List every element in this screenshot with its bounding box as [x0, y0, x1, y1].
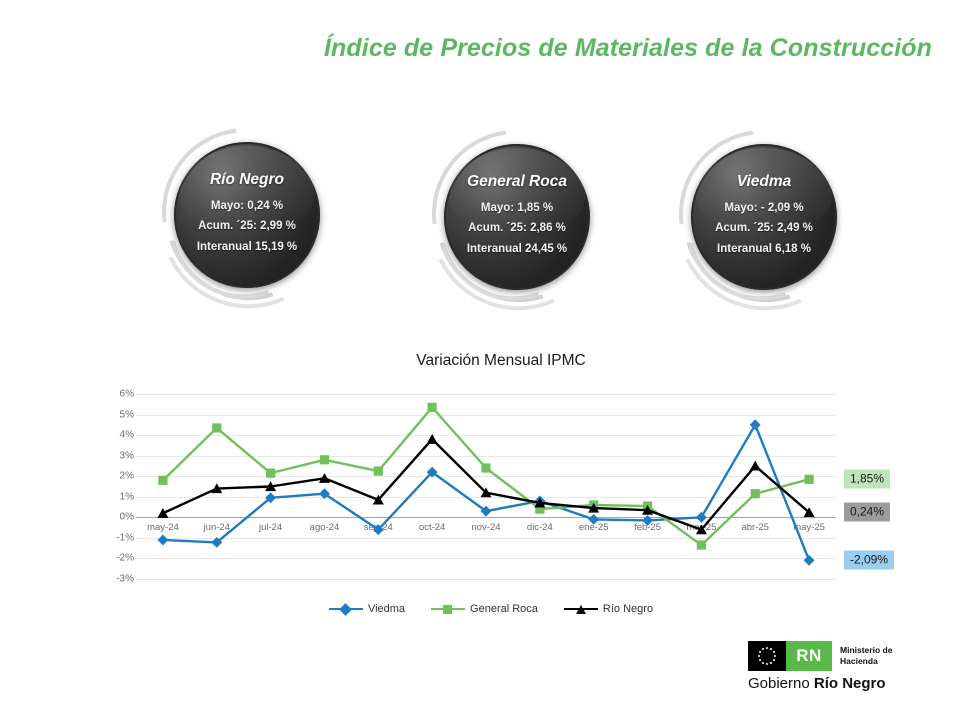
data-point-marker — [266, 469, 275, 478]
legend-item-general-roca[interactable]: General Roca — [431, 603, 538, 615]
data-point-marker — [697, 540, 706, 549]
y-axis-tick-label: -3% — [100, 574, 134, 585]
star-dot-icon — [770, 662, 772, 664]
data-point-marker — [750, 419, 761, 430]
badge-title: Viedma — [737, 173, 792, 191]
stat-badge-general-roca: General Roca Mayo: 1,85 % Acum. ´25: 2,8… — [430, 126, 610, 316]
badge-accumulated-value: Acum. ´25: 2,86 % — [468, 222, 566, 234]
legend-item-río-negro[interactable]: Río Negro — [564, 603, 653, 615]
logo-ministry-line2: Hacienda — [840, 656, 892, 667]
badge-circle: General Roca Mayo: 1,85 % Acum. ´25: 2,8… — [444, 144, 590, 290]
data-point-marker — [374, 466, 383, 475]
legend-label: General Roca — [470, 603, 538, 615]
badge-title: Río Negro — [210, 171, 284, 189]
logo-ministry-text: Ministerio de Hacienda — [832, 641, 892, 671]
logo-gov-name: Río Negro — [814, 675, 886, 692]
star-dot-icon — [773, 651, 775, 653]
y-axis-tick-label: 1% — [100, 491, 134, 502]
government-logo: RN Ministerio de Hacienda Gobierno Río N… — [748, 641, 918, 701]
chart-title: Variación Mensual IPMC — [96, 352, 886, 370]
gridline — [136, 579, 836, 580]
logo-ministry-line1: Ministerio de — [840, 645, 892, 656]
star-dot-icon — [773, 659, 775, 661]
badge-circle: Viedma Mayo: - 2,09 % Acum. ´25: 2,49 % … — [691, 144, 837, 290]
y-axis-tick-label: 2% — [100, 471, 134, 482]
badge-circle: Río Negro Mayo: 0,24 % Acum. ´25: 2,99 %… — [174, 142, 320, 288]
badge-month-value: Mayo: - 2,09 % — [724, 202, 803, 214]
data-point-marker — [804, 475, 813, 484]
data-point-marker — [158, 535, 169, 546]
y-axis-tick-label: 0% — [100, 512, 134, 523]
chart-legend: ViedmaGeneral RocaRío Negro — [96, 603, 886, 615]
legend-marker-icon — [431, 603, 465, 615]
star-dot-icon — [762, 662, 764, 664]
data-point-marker — [427, 434, 438, 444]
legend-label: Viedma — [368, 603, 405, 615]
line-chart: Variación Mensual IPMC 6%5%4%3%2%1%0%-1%… — [96, 352, 886, 617]
stars-circle-icon — [748, 641, 786, 671]
star-dot-icon — [762, 648, 764, 650]
y-axis-tick-label: -2% — [100, 553, 134, 564]
logo-top-row: RN Ministerio de Hacienda — [748, 641, 918, 671]
badge-yearly-value: Interanual 24,45 % — [467, 243, 567, 255]
data-point-marker — [642, 515, 653, 526]
star-dot-icon — [759, 659, 761, 661]
legend-label: Río Negro — [603, 603, 653, 615]
y-axis-tick-label: 3% — [100, 450, 134, 461]
y-axis-tick-label: 6% — [100, 389, 134, 400]
legend-marker-icon — [564, 603, 598, 615]
data-point-marker — [481, 463, 490, 472]
badge-month-value: Mayo: 0,24 % — [211, 200, 283, 212]
page-title: Índice de Precios de Materiales de la Co… — [324, 34, 932, 63]
star-dot-icon — [770, 648, 772, 650]
star-dot-icon — [758, 655, 760, 657]
end-value-label-río-negro: 0,24% — [844, 503, 890, 522]
star-dot-icon — [766, 663, 768, 665]
star-dot-icon — [759, 651, 761, 653]
star-dot-icon — [766, 647, 768, 649]
series-río-negro — [157, 434, 814, 534]
badge-accumulated-value: Acum. ´25: 2,49 % — [715, 222, 813, 234]
stat-badge-rio-negro: Río Negro Mayo: 0,24 % Acum. ´25: 2,99 %… — [160, 124, 340, 314]
data-point-marker — [588, 514, 599, 525]
end-value-label-viedma: -2,09% — [844, 551, 894, 570]
y-axis-tick-label: 4% — [100, 430, 134, 441]
badge-accumulated-value: Acum. ´25: 2,99 % — [198, 220, 296, 232]
series-line — [163, 407, 809, 545]
y-axis-tick-label: -1% — [100, 532, 134, 543]
logo-gov-prefix: Gobierno — [748, 675, 814, 692]
data-point-marker — [696, 512, 707, 523]
data-point-marker — [212, 423, 221, 432]
data-point-marker — [428, 403, 437, 412]
end-value-label-general-roca: 1,85% — [844, 470, 890, 489]
chart-plot-area: 6%5%4%3%2%1%0%-1%-2%-3% may-24jun-24jul-… — [136, 394, 836, 579]
badge-yearly-value: Interanual 15,19 % — [197, 241, 297, 253]
data-point-marker — [751, 489, 760, 498]
chart-series-layer — [136, 394, 836, 579]
data-point-marker — [750, 461, 761, 471]
data-point-marker — [157, 508, 168, 518]
star-dot-icon — [774, 655, 776, 657]
data-point-marker — [158, 476, 167, 485]
badge-yearly-value: Interanual 6,18 % — [717, 243, 811, 255]
y-axis-tick-label: 5% — [100, 409, 134, 420]
data-point-marker — [804, 555, 815, 566]
logo-rn-mark: RN — [786, 641, 832, 671]
stat-badge-viedma: Viedma Mayo: - 2,09 % Acum. ´25: 2,49 % … — [677, 126, 857, 316]
logo-government-text: Gobierno Río Negro — [748, 675, 918, 692]
legend-marker-icon — [329, 603, 363, 615]
data-point-marker — [320, 455, 329, 464]
series-general-roca — [158, 403, 813, 550]
badge-title: General Roca — [467, 173, 567, 191]
badge-month-value: Mayo: 1,85 % — [481, 202, 553, 214]
legend-item-viedma[interactable]: Viedma — [329, 603, 405, 615]
